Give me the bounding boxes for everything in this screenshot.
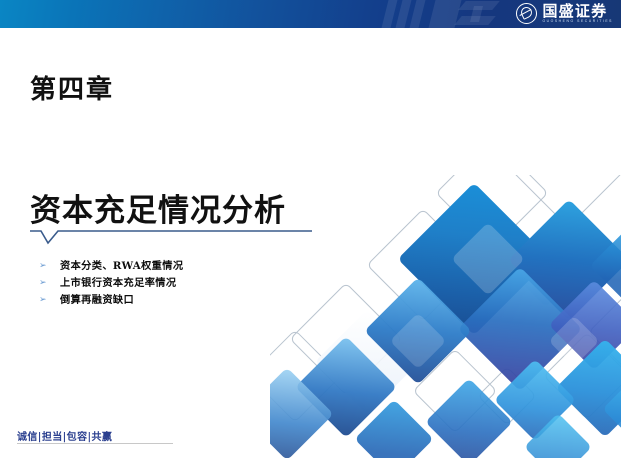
diamond-outline	[270, 329, 342, 422]
bullet-list: ➢ 资本分类、RWA权重情况 ➢ 上市银行资本充足率情况 ➢ 倒算再融资缺口	[39, 259, 289, 310]
guosheng-swirl-logo-icon	[516, 3, 537, 24]
diamond-tile	[270, 367, 334, 458]
diamond-highlight	[451, 222, 525, 296]
list-item[interactable]: ➢ 倒算再融资缺口	[39, 293, 289, 309]
presentation-slide: 国盛证券 GUOSHENG SECURITIES	[0, 0, 621, 458]
diamond-tile	[458, 267, 582, 391]
title-underline-rule	[28, 228, 313, 246]
diamond-tile	[590, 231, 621, 302]
slide-title: 资本充足情况分析	[30, 185, 286, 230]
diamond-tile	[504, 223, 589, 308]
diamond-tile	[315, 310, 420, 415]
list-item-label: 倒算再融资缺口	[60, 293, 134, 308]
diamond-tile	[364, 277, 471, 384]
diamond-tile	[494, 359, 576, 441]
diamond-tile	[508, 199, 621, 321]
list-item-label: 资本分类、RWA权重情况	[60, 259, 183, 274]
diamond-tile	[295, 336, 397, 438]
diamond-tile	[556, 339, 621, 438]
company-logo: 国盛证券 GUOSHENG SECURITIES	[516, 2, 613, 25]
footer-underline	[17, 443, 173, 444]
header-watermark-shape	[409, 0, 427, 28]
decorative-diamond-pattern	[270, 175, 621, 458]
arrow-bullet-icon: ➢	[39, 259, 60, 274]
list-item[interactable]: ➢ 资本分类、RWA权重情况	[39, 259, 289, 275]
diamond-tile	[354, 399, 433, 458]
diamond-tile	[549, 280, 621, 371]
diamond-tile	[425, 378, 513, 458]
logo-text-block: 国盛证券 GUOSHENG SECURITIES	[542, 4, 613, 24]
diamond-outline	[435, 175, 548, 250]
diamond-highlight	[549, 316, 600, 367]
logo-company-name-cn: 国盛证券	[542, 4, 613, 19]
slide-header-bar: 国盛证券 GUOSHENG SECURITIES	[0, 0, 621, 28]
diamond-tile	[524, 413, 592, 458]
diamond-tile	[398, 183, 551, 336]
arrow-bullet-icon: ➢	[39, 293, 60, 308]
diamond-outline	[511, 175, 621, 228]
diamond-outline	[413, 349, 498, 434]
arrow-bullet-icon: ➢	[39, 276, 60, 291]
diamond-outline	[543, 332, 621, 420]
diamond-highlight	[390, 313, 447, 370]
list-item-label: 上市银行资本充足率情况	[60, 276, 176, 291]
diamond-outline	[477, 366, 536, 425]
diamond-tile	[602, 369, 621, 448]
list-item[interactable]: ➢ 上市银行资本充足率情况	[39, 276, 289, 292]
diamond-outline	[588, 291, 621, 373]
chapter-label: 第四章	[30, 69, 114, 106]
diamond-outline	[289, 282, 402, 395]
diamond-outline	[366, 208, 479, 321]
footer-slogan: 诚信|担当|包容|共赢	[17, 428, 112, 443]
logo-company-name-en: GUOSHENG SECURITIES	[542, 20, 613, 23]
